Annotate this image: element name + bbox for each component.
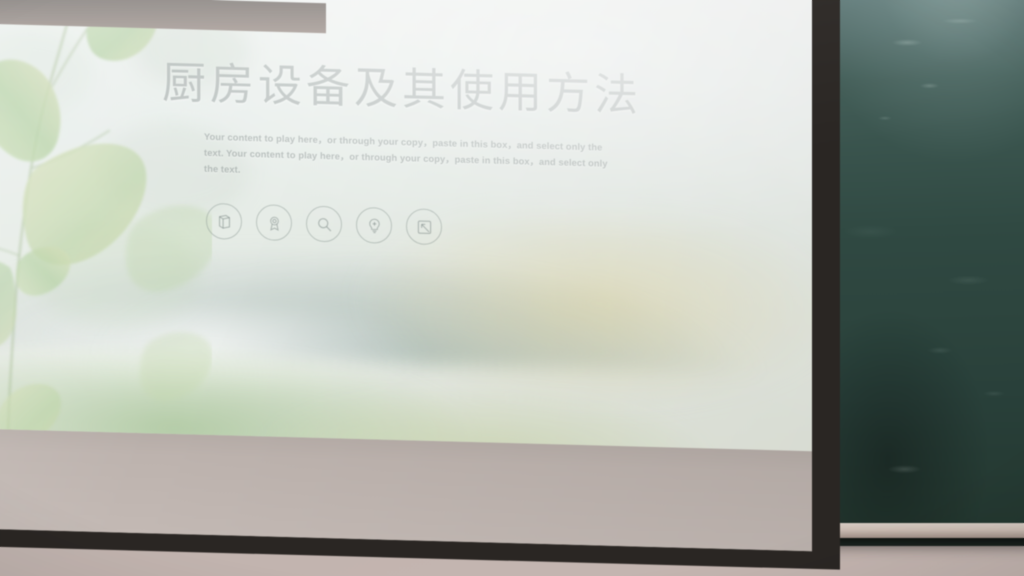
slide-body-text: Your content to play here，or through you… (204, 129, 624, 189)
lightbulb-plus-icon (356, 207, 392, 244)
search-icon (306, 206, 342, 243)
classroom-scene: 厨房设备及其使用方法 Your content to play here，or … (0, 0, 1024, 576)
slide-icon-row (206, 203, 442, 245)
chalkboard (824, 0, 1024, 534)
slide-title: 厨房设备及其使用方法 (162, 47, 642, 124)
book-icon (206, 203, 242, 240)
expand-document-icon (406, 208, 442, 245)
presentation-slide: 厨房设备及其使用方法 Your content to play here，or … (0, 0, 812, 451)
chalk-ledge (838, 523, 1024, 538)
projection-screen: 厨房设备及其使用方法 Your content to play here，or … (0, 0, 812, 551)
award-badge-icon (256, 204, 292, 241)
chalk-smudges (824, 0, 1024, 534)
